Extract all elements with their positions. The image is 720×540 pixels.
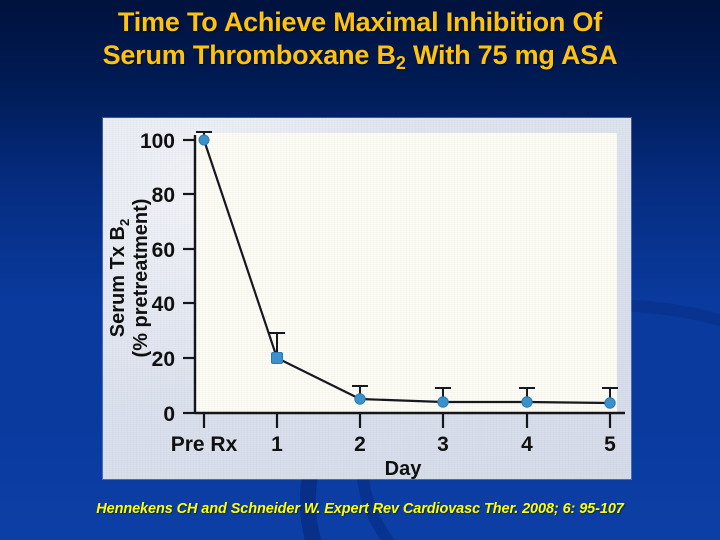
x-tick-label-5: 5 — [604, 433, 616, 456]
slide-title-line-2: Serum Thromboxane B2 With 75 mg ASA — [0, 39, 720, 75]
x-tick-label-3: 3 — [437, 433, 449, 456]
y-tick-label-100: 100 — [140, 130, 175, 153]
data-point-day-2 — [355, 394, 365, 404]
data-point-day-5 — [605, 398, 615, 408]
y-axis-title-group: Serum Tx B2 (% pretreatment) — [107, 199, 152, 358]
data-point-day-4 — [522, 397, 532, 407]
y-tick-label-0: 0 — [163, 403, 175, 426]
citation-text: Hennekens CH and Schneider W. Expert Rev… — [0, 501, 720, 517]
y-axis-title-line-1: Serum Tx B2 — [107, 219, 132, 337]
data-point-markers-group — [199, 135, 615, 408]
slide-canvas: Time To Achieve Maximal Inhibition Of Se… — [0, 0, 720, 540]
y-tick-label-40: 40 — [152, 293, 175, 316]
x-tick-label-4: 4 — [521, 433, 533, 456]
y-tick-label-80: 80 — [152, 184, 175, 207]
slide-title-line-2-text-after: With 75 mg ASA — [406, 40, 618, 70]
y-tick-label-60: 60 — [152, 239, 175, 262]
y-tick-label-20: 20 — [152, 348, 175, 371]
data-point-day-3 — [438, 397, 448, 407]
slide-title-subscript: 2 — [396, 53, 406, 73]
data-point-pre-rx — [199, 135, 209, 145]
slide-title: Time To Achieve Maximal Inhibition Of Se… — [0, 6, 720, 75]
y-axis-title-line-2: (% pretreatment) — [130, 199, 152, 358]
slide-title-line-1: Time To Achieve Maximal Inhibition Of — [118, 7, 602, 37]
x-tick-label-1: 1 — [271, 433, 283, 456]
x-tick-label-2: 2 — [354, 433, 366, 456]
slide-title-line-2-text-before: Serum Thromboxane B — [103, 40, 396, 70]
line-chart: 100 80 60 40 20 0 Pre Rx 1 2 3 4 5 Day — [103, 118, 631, 479]
x-tick-label-pre-rx: Pre Rx — [171, 433, 238, 456]
x-axis-title: Day — [385, 458, 423, 479]
data-series-line — [204, 140, 610, 403]
data-point-day-1 — [272, 353, 283, 364]
error-bars-group — [196, 132, 618, 403]
chart-figure-panel: 100 80 60 40 20 0 Pre Rx 1 2 3 4 5 Day — [103, 118, 631, 479]
